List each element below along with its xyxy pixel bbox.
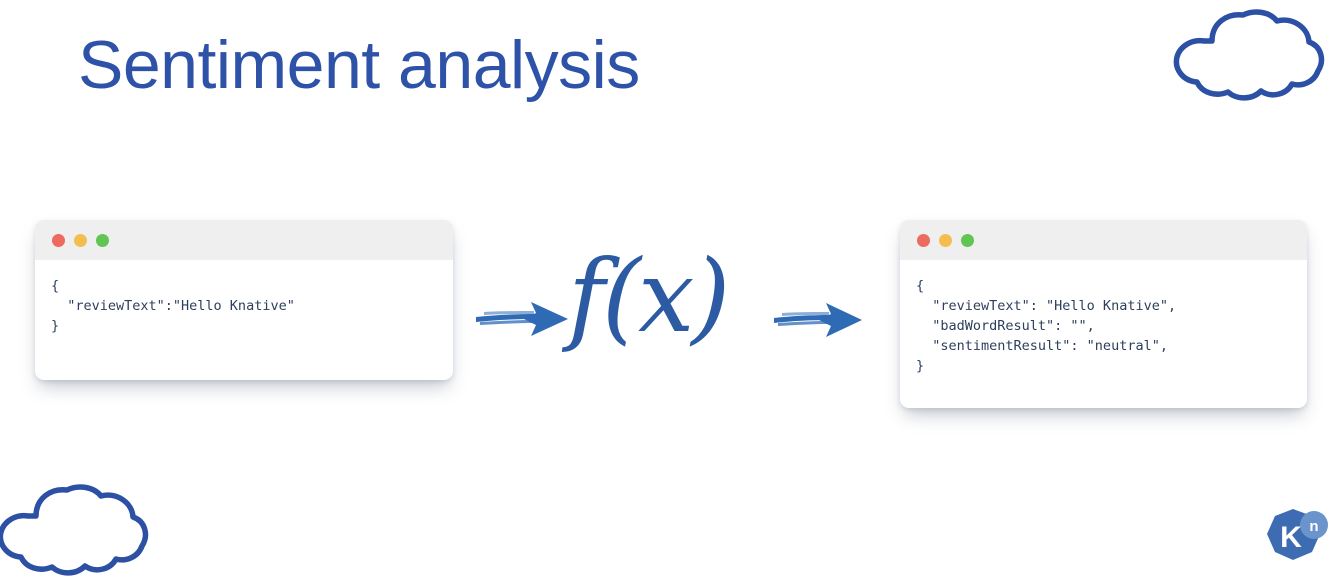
slide-canvas: Sentiment analysis { "reviewText":"Hello…	[0, 0, 1341, 585]
knative-logo: K n	[1263, 505, 1329, 571]
cloud-decoration-bottom-left	[0, 483, 142, 575]
arrow-into-function	[474, 298, 570, 340]
arrow-out-of-function	[772, 300, 864, 340]
cloud-decoration-top-right	[1168, 8, 1326, 106]
window-titlebar	[900, 220, 1307, 260]
window-body: { "reviewText": "Hello Knative", "badWor…	[900, 260, 1307, 376]
cloud-icon	[0, 483, 150, 581]
close-window-button[interactable]	[52, 234, 65, 247]
maximize-window-button[interactable]	[961, 234, 974, 247]
close-window-button[interactable]	[917, 234, 930, 247]
cloud-icon	[1168, 8, 1326, 106]
page-title: Sentiment analysis	[78, 30, 640, 101]
knative-logo-badge-letter: n	[1309, 518, 1318, 535]
arrow-right-icon	[474, 298, 570, 340]
window-titlebar	[35, 220, 453, 260]
maximize-window-button[interactable]	[96, 234, 109, 247]
knative-logo-icon: K n	[1263, 505, 1329, 571]
arrow-right-icon	[772, 300, 864, 340]
minimize-window-button[interactable]	[939, 234, 952, 247]
window-body: { "reviewText":"Hello Knative" }	[35, 260, 453, 336]
output-code-window: { "reviewText": "Hello Knative", "badWor…	[900, 220, 1307, 408]
minimize-window-button[interactable]	[74, 234, 87, 247]
function-label: f(x)	[568, 247, 727, 347]
input-json-code: { "reviewText":"Hello Knative" }	[51, 276, 453, 336]
output-json-code: { "reviewText": "Hello Knative", "badWor…	[916, 276, 1307, 376]
knative-logo-letter: K	[1280, 521, 1302, 554]
input-code-window: { "reviewText":"Hello Knative" }	[35, 220, 453, 380]
